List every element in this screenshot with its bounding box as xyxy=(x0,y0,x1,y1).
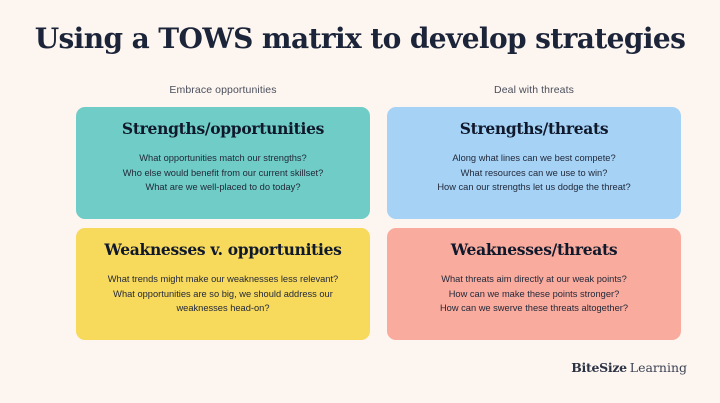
brand-logo: BiteSizeLearning xyxy=(571,360,687,375)
page-title: Using a TOWS matrix to develop strategie… xyxy=(0,22,720,55)
question-line: How can we swerve these threats altogeth… xyxy=(440,301,628,316)
question-line: Along what lines can we best compete? xyxy=(437,151,630,166)
question-line: What opportunities match our strengths? xyxy=(123,151,324,166)
quadrant-questions: Along what lines can we best compete?Wha… xyxy=(437,151,630,195)
row-label-mitigating-weakness: Mitigating weakness xyxy=(0,228,6,340)
quadrant-questions: What opportunities match our strengths?W… xyxy=(123,151,324,195)
quadrant-strengths-opportunities[interactable]: Strengths/opportunities What opportuniti… xyxy=(76,107,370,219)
column-header-threats: Deal with threats xyxy=(387,84,681,96)
quadrant-strengths-threats[interactable]: Strengths/threats Along what lines can w… xyxy=(387,107,681,219)
quadrant-questions: What threats aim directly at our weak po… xyxy=(440,272,628,316)
question-line: What resources can we use to win? xyxy=(437,166,630,181)
quadrant-heading: Strengths/opportunities xyxy=(122,119,324,138)
question-line: Who else would benefit from our current … xyxy=(123,166,324,181)
tows-matrix-slide: Using a TOWS matrix to develop strategie… xyxy=(0,0,720,403)
question-line: What are we well-placed to do today? xyxy=(123,180,324,195)
column-header-opportunities: Embrace opportunities xyxy=(76,84,370,96)
brand-logo-primary: BiteSize xyxy=(571,360,626,375)
question-line: What threats aim directly at our weak po… xyxy=(440,272,628,287)
brand-logo-secondary: Learning xyxy=(630,360,687,375)
quadrant-questions: What trends might make our weaknesses le… xyxy=(104,272,342,316)
row-label-playing-to-strengths: Playing to strengths xyxy=(0,107,6,219)
quadrant-weaknesses-opportunities[interactable]: Weaknesses v. opportunities What trends … xyxy=(76,228,370,340)
question-line: How can we make these points stronger? xyxy=(440,287,628,302)
quadrant-weaknesses-threats[interactable]: Weaknesses/threats What threats aim dire… xyxy=(387,228,681,340)
quadrant-heading: Strengths/threats xyxy=(460,119,609,138)
quadrant-heading: Weaknesses v. opportunities xyxy=(104,240,341,259)
question-line: How can our strengths let us dodge the t… xyxy=(437,180,630,195)
quadrant-heading: Weaknesses/threats xyxy=(451,240,618,259)
